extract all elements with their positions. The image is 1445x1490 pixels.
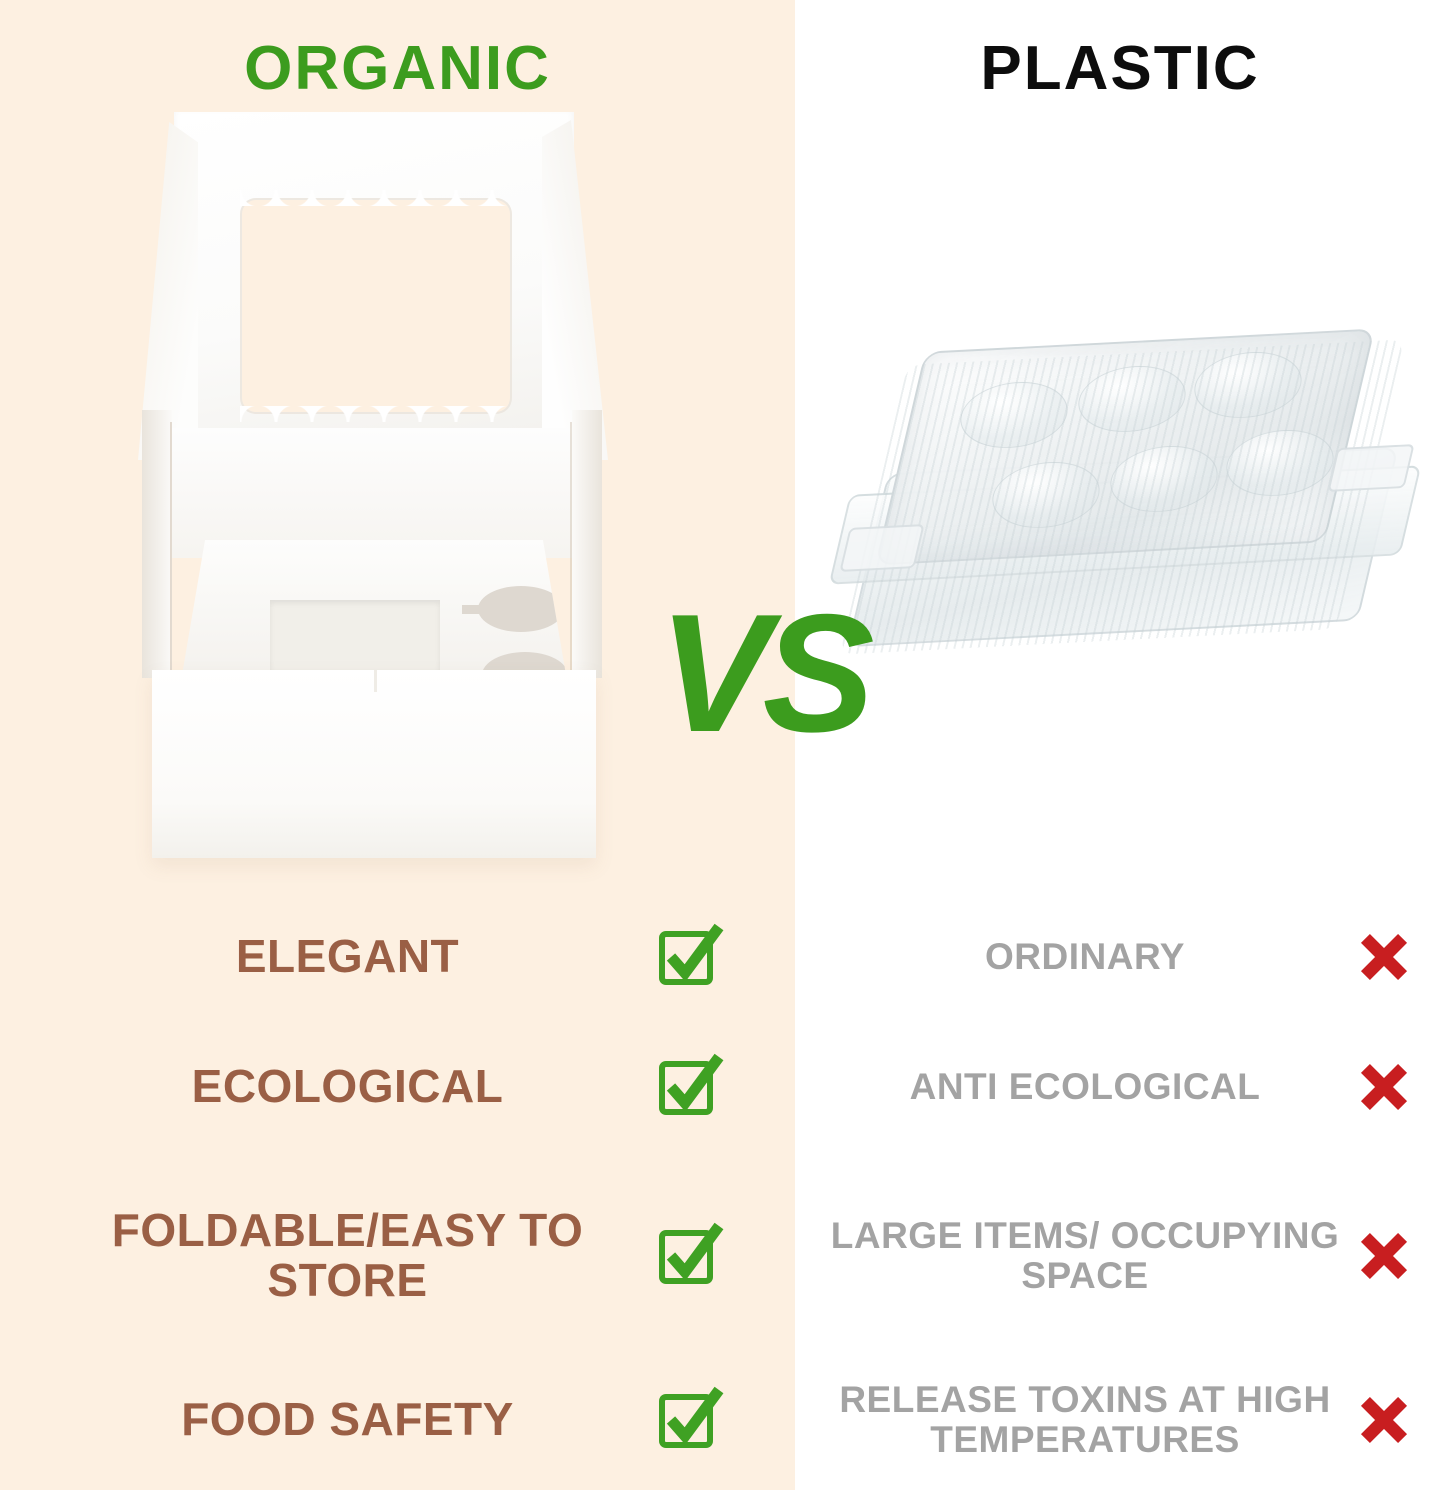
plastic-clamshell-image [843, 330, 1413, 670]
organic-heading: ORGANIC [0, 38, 795, 100]
check-icon [657, 925, 721, 989]
list-spacer [795, 1012, 1445, 1028]
paper-bakery-box-image [138, 110, 608, 895]
organic-product-stage [0, 110, 795, 900]
box-right-side-panel [572, 410, 602, 678]
feature-label: ANTI ECOLOGICAL [829, 1067, 1341, 1107]
plastic-column: PLASTIC ORDINARY [795, 0, 1445, 1490]
box-right-crease [570, 422, 572, 672]
feature-row-food-safety: FOOD SAFETY [0, 1360, 795, 1480]
box-front-wall [152, 670, 596, 858]
feature-row-release-toxins: RELEASE TOXINS AT HIGH TEMPERATURES [795, 1360, 1445, 1480]
list-spacer [0, 1012, 795, 1028]
box-front-seam [374, 670, 377, 692]
box-display-window [242, 200, 510, 412]
feature-label: ECOLOGICAL [60, 1062, 635, 1112]
versus-badge: VS [655, 583, 870, 763]
list-spacer [0, 1146, 795, 1176]
check-icon [657, 1388, 721, 1452]
check-icon [657, 1055, 721, 1119]
feature-row-large-items: LARGE ITEMS/ OCCUPYING SPACE [795, 1176, 1445, 1336]
cross-icon [1357, 1060, 1411, 1114]
comparison-infographic: ORGANIC [0, 0, 1445, 1490]
feature-label: FOLDABLE/EASY TO STORE [60, 1206, 635, 1305]
plastic-heading: PLASTIC [795, 38, 1445, 100]
organic-feature-list: ELEGANT ECOLOGICAL [0, 902, 795, 1480]
list-spacer [795, 1336, 1445, 1360]
cross-icon [1357, 1229, 1411, 1283]
cupcake-insert-tray [182, 540, 566, 675]
feature-label: FOOD SAFETY [60, 1395, 635, 1445]
feature-row-ordinary: ORDINARY [795, 902, 1445, 1012]
feature-label: RELEASE TOXINS AT HIGH TEMPERATURES [829, 1380, 1341, 1460]
box-lid-right-wing [542, 120, 608, 460]
feature-row-elegant: ELEGANT [0, 902, 795, 1012]
plastic-feature-list: ORDINARY ANTI ECOLOGICAL LARGE I [795, 902, 1445, 1480]
box-left-crease [170, 422, 172, 672]
box-left-side-panel [142, 410, 172, 678]
clamshell-right-tab [1327, 444, 1414, 492]
feature-row-ecological: ECOLOGICAL [0, 1028, 795, 1146]
clamshell-left-tab [839, 524, 924, 572]
feature-row-anti-ecological: ANTI ECOLOGICAL [795, 1028, 1445, 1146]
insert-well [270, 600, 440, 670]
list-spacer [0, 1336, 795, 1360]
list-spacer [795, 1146, 1445, 1176]
feature-row-foldable: FOLDABLE/EASY TO STORE [0, 1176, 795, 1336]
feature-label: ORDINARY [829, 937, 1341, 977]
check-icon [657, 1224, 721, 1288]
clamshell-ribbed-texture [840, 339, 1405, 654]
cross-icon [1357, 930, 1411, 984]
plastic-product-stage [795, 300, 1445, 740]
feature-label: ELEGANT [60, 932, 635, 982]
box-inner-back-wall [168, 428, 576, 558]
feature-label: LARGE ITEMS/ OCCUPYING SPACE [829, 1216, 1341, 1296]
cupcake-hole [478, 586, 564, 632]
cross-icon [1357, 1393, 1411, 1447]
